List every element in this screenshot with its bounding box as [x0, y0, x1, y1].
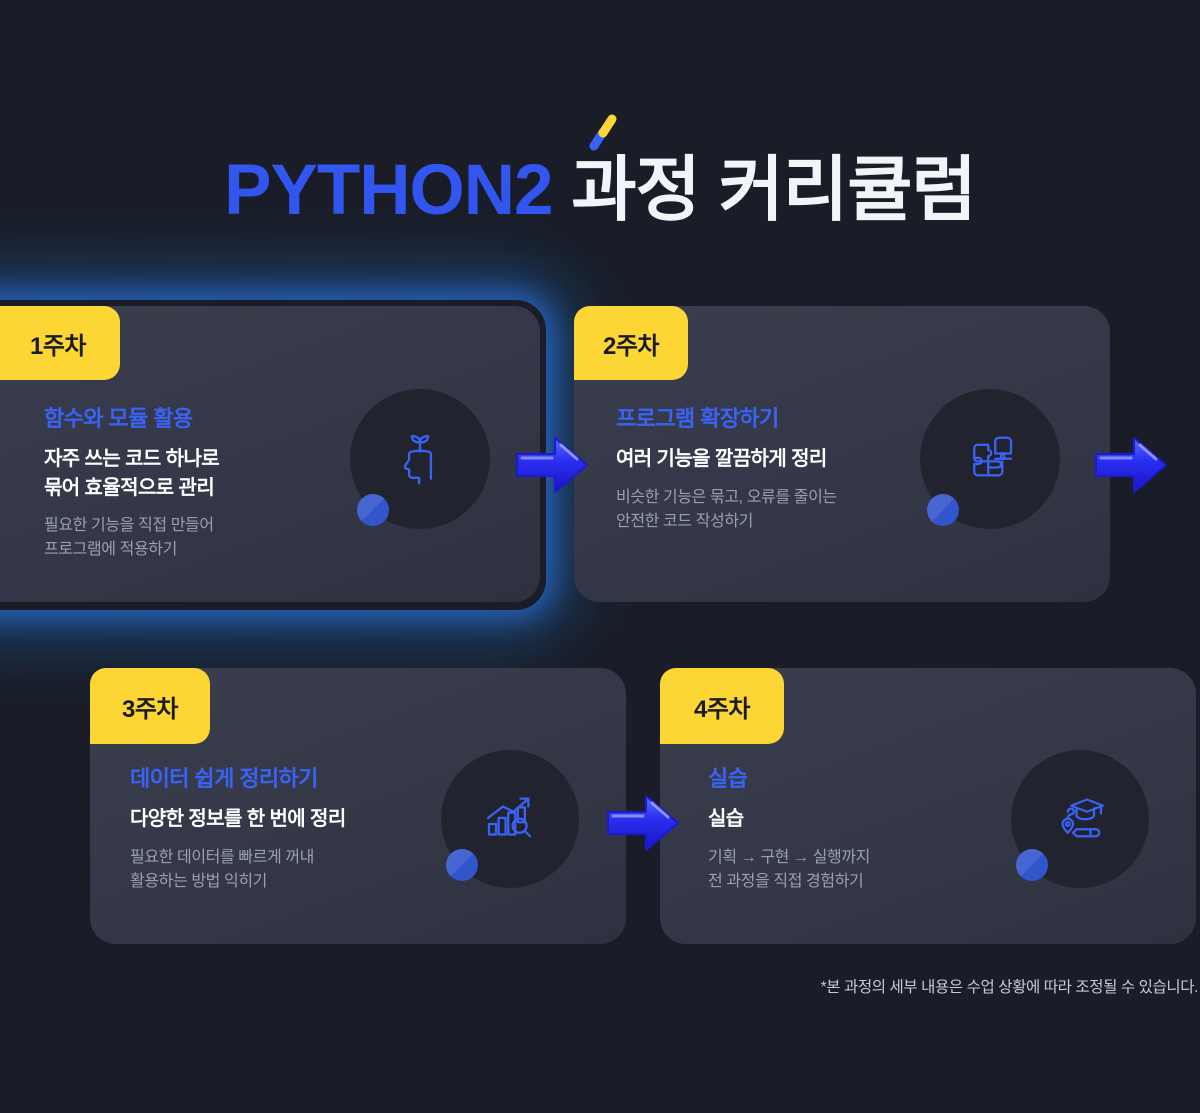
bar-chart-search-icon [482, 789, 538, 850]
week-badge-1: 1주차 [0, 306, 120, 380]
week-badge-4: 4주차 [660, 668, 784, 744]
card-description-3: 필요한 데이터를 빠르게 꺼내 활용하는 방법 익히기 [130, 846, 346, 894]
title-accent: PYTHON2 [224, 151, 552, 230]
card-subtitle-2: 여러 기능을 깔끔하게 정리 [616, 445, 837, 473]
accent-dot-1 [357, 494, 389, 526]
card-heading-1: 함수와 모듈 활용 [44, 406, 219, 432]
card-heading-4: 실습 [708, 766, 870, 792]
week-card-2-text: 프로그램 확장하기 여러 기능을 깔끔하게 정리 비슷한 기능은 묶고, 오류를… [616, 406, 837, 534]
week-badge-2: 2주차 [574, 306, 688, 380]
pen-icon [586, 112, 620, 154]
graduation-pencil-icon [1052, 789, 1108, 850]
card-heading-2: 프로그램 확장하기 [616, 406, 837, 432]
card-subtitle-1: 자주 쓰는 코드 하나로 묶어 효율적으로 관리 [44, 445, 219, 502]
page-title: PYTHON2 과정 커리큘럼 [0, 155, 1200, 226]
card-description-1: 필요한 기능을 직접 만들어 프로그램에 적용하기 [44, 514, 219, 562]
card-description-2: 비슷한 기능은 묶고, 오류를 줄이는 안전한 코드 작성하기 [616, 486, 837, 534]
card-subtitle-4: 실습 [708, 805, 870, 833]
title-rest: 과정 커리큘럼 [571, 151, 976, 230]
week-badge-3: 3주차 [90, 668, 210, 744]
card-subtitle-3: 다양한 정보를 한 번에 정리 [130, 805, 346, 833]
accent-dot-3 [446, 849, 478, 881]
week-card-3-text: 데이터 쉽게 정리하기 다양한 정보를 한 번에 정리 필요한 데이터를 빠르게… [130, 766, 346, 894]
week-card-4-text: 실습 실습 기획 → 구현 → 실행까지 전 과정을 직접 경험하기 [708, 766, 870, 894]
card-heading-3: 데이터 쉽게 정리하기 [130, 766, 346, 792]
curriculum-infographic: PYTHON2 과정 커리큘럼 1주차 함수와 모듈 활용 자주 쓰는 코드 하… [0, 0, 1200, 1113]
arrow-week2-to-week3 [1092, 432, 1170, 498]
footnote: *본 과정의 세부 내용은 수업 상황에 따라 조정될 수 있습니다. [0, 975, 1200, 997]
accent-dot-2 [927, 494, 959, 526]
card-description-4: 기획 → 구현 → 실행까지 전 과정을 직접 경험하기 [708, 846, 870, 894]
arrow-week1-to-week2 [513, 432, 591, 498]
accent-dot-4 [1016, 849, 1048, 881]
week-card-1-text: 함수와 모듈 활용 자주 쓰는 코드 하나로 묶어 효율적으로 관리 필요한 기… [44, 406, 219, 562]
puzzle-pieces-icon [962, 429, 1018, 490]
arrow-week3-to-week4 [604, 790, 682, 856]
head-sprout-icon [391, 428, 449, 491]
